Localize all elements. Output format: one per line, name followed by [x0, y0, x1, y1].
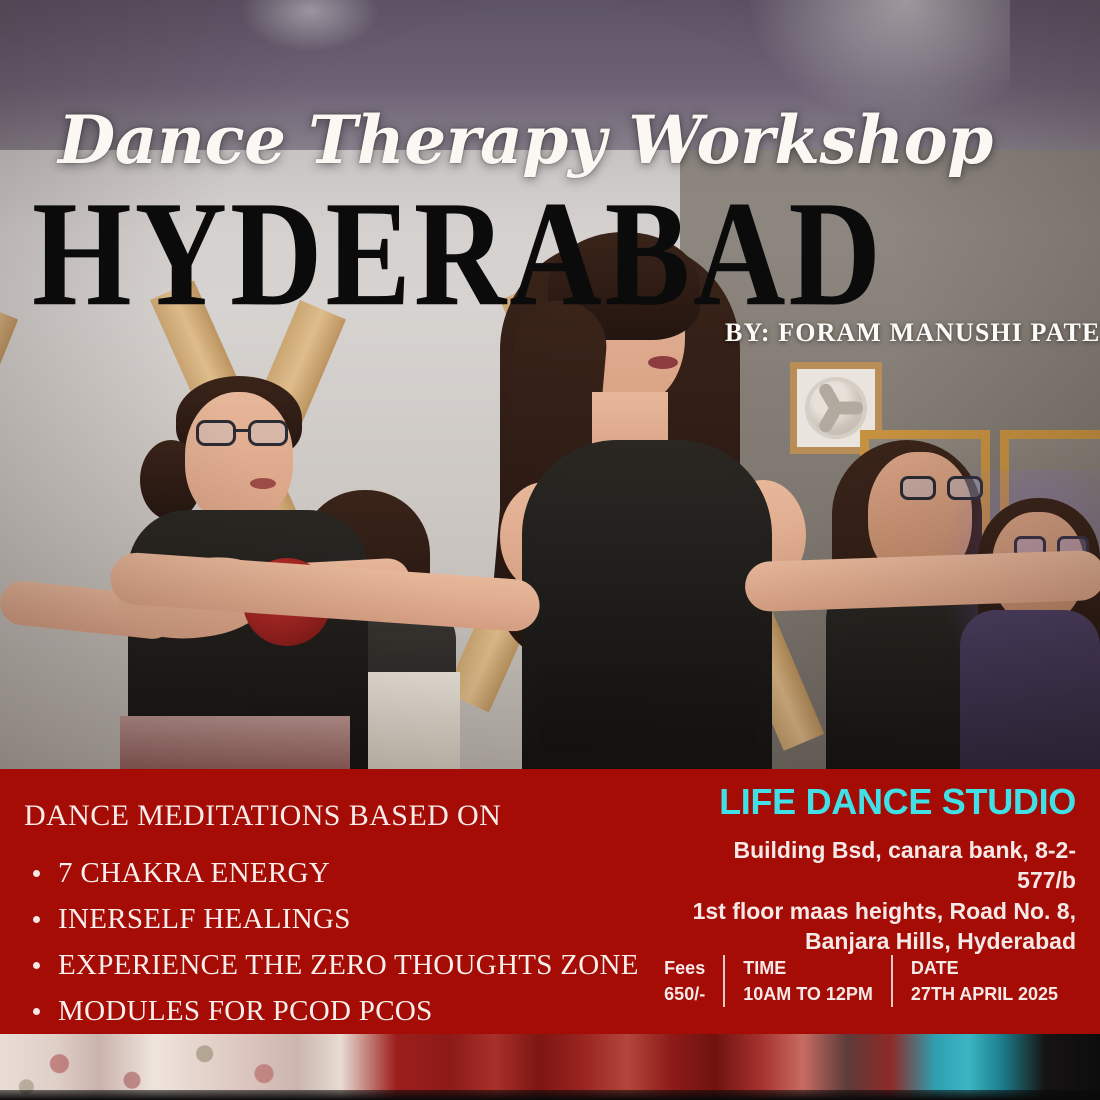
detail-value: 27TH APRIL 2025 — [911, 981, 1058, 1007]
detail-fees: Fees 650/- — [646, 955, 723, 1007]
detail-label: Fees — [664, 955, 705, 981]
byline: BY: FORAM MANUSHI PATEL — [725, 318, 1100, 348]
list-item: EXPERIENCE THE ZERO THOUGHTS ZONE — [24, 949, 664, 982]
detail-label: DATE — [911, 955, 1058, 981]
address-line: 1st floor maas heights, Road No. 8, — [676, 896, 1076, 926]
list-item: MODULES FOR PCOD PCOS — [24, 995, 664, 1028]
detail-date: DATE 27TH APRIL 2025 — [891, 955, 1076, 1007]
banner-heading: DANCE MEDITATIONS BASED ON — [24, 799, 664, 833]
detail-value: 650/- — [664, 981, 705, 1007]
detail-value: 10AM TO 12PM — [743, 981, 873, 1007]
address-line: Banjara Hills, Hyderabad — [676, 926, 1076, 956]
page-title-script: Dance Therapy Workshop — [58, 101, 1058, 179]
bottom-photo-strip — [0, 1034, 1100, 1100]
topics-list: 7 CHAKRA ENERGY INERSELF HEALINGS EXPERI… — [24, 857, 664, 1028]
strip-shadow — [0, 1090, 1100, 1100]
detail-time: TIME 10AM TO 12PM — [723, 955, 891, 1007]
list-item: INERSELF HEALINGS — [24, 903, 664, 936]
detail-label: TIME — [743, 955, 873, 981]
info-banner: DANCE MEDITATIONS BASED ON 7 CHAKRA ENER… — [0, 769, 1100, 1034]
banner-left-column: DANCE MEDITATIONS BASED ON 7 CHAKRA ENER… — [24, 799, 664, 1041]
studio-address: Building Bsd, canara bank, 8-2-577/b 1st… — [676, 835, 1076, 956]
list-item: 7 CHAKRA ENERGY — [24, 857, 664, 890]
event-details: Fees 650/- TIME 10AM TO 12PM DATE 27TH A… — [646, 955, 1076, 1007]
page-title-city: HYDERABAD — [32, 178, 1082, 329]
address-line: Building Bsd, canara bank, 8-2-577/b — [676, 835, 1076, 896]
studio-name: LIFE DANCE STUDIO — [676, 781, 1076, 823]
banner-right-column: LIFE DANCE STUDIO Building Bsd, canara b… — [676, 781, 1076, 956]
poster: Dance Therapy Workshop HYDERABAD BY: FOR… — [0, 0, 1100, 1100]
